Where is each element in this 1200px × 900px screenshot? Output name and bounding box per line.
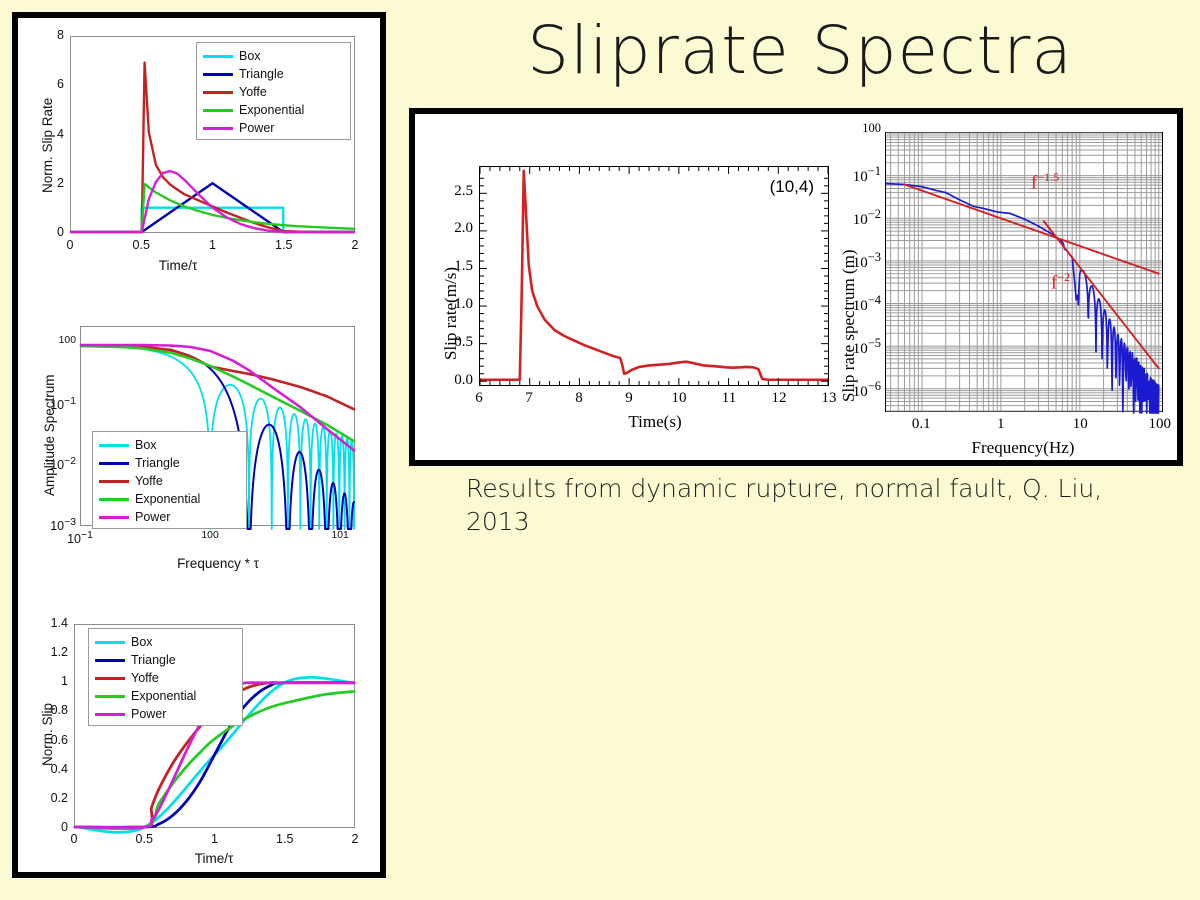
legend: BoxTriangleYoffeExponentialPower [92,431,247,529]
tick-label: 0 [71,832,78,846]
legend-label: Power [239,119,274,137]
legend-swatch-exponential [203,109,233,112]
tick-label: 1 [211,832,218,846]
tick-label: 100 [1148,416,1171,433]
legend-label: Triangle [239,65,284,83]
chart-slip-rate-timeseries: (10,4) 678910111213 0.00.51.01.52.02.5 T… [427,124,847,464]
x-axis-label: Time/τ [195,851,234,866]
tick-label: 1 [61,674,68,688]
legend-item: Triangle [197,65,350,83]
legend-label: Box [135,436,157,454]
legend-swatch-yoffe [203,91,233,94]
legend-item: Box [197,47,350,65]
tick-label: 100 [59,335,76,351]
legend-item: Power [89,705,242,723]
legend-label: Power [135,508,170,526]
chart-slip-rate-spectrum: 0.1110100 10−610−510−410−310−210−1100 Fr… [823,118,1181,466]
legend-label: Exponential [135,490,200,508]
legend-swatch-triangle [203,73,233,76]
tick-label: 10 [672,390,687,407]
y-axis-label: Norm. Slip [40,703,55,766]
legend-swatch-box [203,55,233,58]
legend-label: Exponential [239,101,304,119]
legend-label: Yoffe [239,83,267,101]
legend-swatch-yoffe [95,677,125,680]
tick-label: 9 [625,390,633,407]
legend-swatch-power [203,127,233,130]
legend-label: Exponential [131,687,196,705]
legend-label: Triangle [135,454,180,472]
legend-swatch-exponential [99,498,129,501]
chart-amplitude-spectrum: 10−1100101 10−310−210−1100 Frequency * τ… [18,306,380,596]
legend-label: Box [131,633,153,651]
legend-item: Triangle [93,454,246,472]
legend-item: Power [197,119,350,137]
tick-label: 2 [352,832,359,846]
tick-label: 1 [209,238,216,252]
y-axis-label: Slip rate(m/s) [441,267,461,360]
tick-label: 0.1 [912,416,931,433]
tick-label: 0.5 [133,238,150,252]
x-axis-label: Time/τ [159,258,198,273]
tick-label: 0 [67,238,74,252]
legend-label: Triangle [131,651,176,669]
tick-label: 10−3 [50,517,76,533]
legend-swatch-yoffe [99,480,129,483]
y-axis-label: Slip rate spectrum (m) [839,250,859,403]
legend-item: Power [93,508,246,526]
legend-item: Box [93,436,246,454]
annotation-station-label: (10,4) [770,177,814,197]
tick-label: 8 [575,390,583,407]
annotation-f-2: f−2 [1051,270,1070,294]
legend-item: Box [89,633,242,651]
right-figure-panel: (10,4) 678910111213 0.00.51.01.52.02.5 T… [409,108,1183,466]
x-axis-label: Frequency(Hz) [972,438,1075,458]
legend-label: Yoffe [135,472,163,490]
tick-label: 2.0 [454,220,473,237]
x-axis-label: Frequency * τ [177,556,259,571]
tick-label: 2 [352,238,359,252]
legend-item: Yoffe [93,472,246,490]
legend-item: Yoffe [197,83,350,101]
tick-label: 4 [57,127,64,141]
tick-label: 0 [57,225,64,239]
legend-label: Box [239,47,261,65]
tick-label: 1.5 [275,238,292,252]
y-axis-label: Amplitude Spectrum [42,374,57,496]
legend-swatch-box [95,641,125,644]
tick-label: 100 [862,121,881,143]
tick-label: 1.5 [276,832,293,846]
legend: BoxTriangleYoffeExponentialPower [196,42,351,140]
plot-area: (10,4) [479,166,829,386]
annotation-f-1-5: f−1.5 [1031,170,1059,194]
tick-label: 7 [525,390,533,407]
legend-swatch-triangle [99,462,129,465]
tick-label: 0.0 [454,372,473,389]
tick-label: 2 [57,176,64,190]
x-axis-label: Time(s) [628,412,681,432]
slide-caption: Results from dynamic rupture, normal fau… [466,472,1166,538]
tick-label: 1.4 [51,616,68,630]
tick-label: 10−1 [853,164,881,186]
tick-label: 6 [57,77,64,91]
tick-label: 11 [722,390,736,407]
tick-label: 8 [57,28,64,42]
tick-label: 100 [201,530,218,546]
tick-label: 0.5 [136,832,153,846]
legend-item: Exponential [89,687,242,705]
legend-swatch-power [95,713,125,716]
page-title: Sliprate Spectra [430,8,1170,94]
legend-swatch-exponential [95,695,125,698]
tick-label: 6 [475,390,483,407]
tick-label: 12 [772,390,787,407]
tick-label: 2.5 [454,183,473,200]
chart-normalized-slip: 00.511.52 00.20.40.60.811.21.4 Time/τ No… [18,606,380,878]
left-figure-panel: 00.511.52 02468 Time/τ Norm. Slip Rate B… [12,12,386,878]
y-axis-label: Norm. Slip Rate [40,98,55,193]
tick-label: 101 [331,530,348,546]
legend-label: Power [131,705,166,723]
tick-label: 0 [61,820,68,834]
tick-label: 0.2 [51,791,68,805]
tick-label: 10 [1073,416,1088,433]
series-lines [480,167,828,385]
tick-label: 10−2 [853,207,881,229]
legend: BoxTriangleYoffeExponentialPower [88,628,243,726]
legend-item: Triangle [89,651,242,669]
tick-label: 1.2 [51,645,68,659]
legend-swatch-power [99,516,129,519]
chart-slip-rate-functions: 00.511.52 02468 Time/τ Norm. Slip Rate B… [18,18,380,298]
legend-item: Yoffe [89,669,242,687]
slide-root: Sliprate Spectra 00.511.52 02468 Time/τ … [0,0,1200,900]
legend-item: Exponential [93,490,246,508]
legend-label: Yoffe [131,669,159,687]
plot-area [885,132,1163,412]
legend-swatch-triangle [95,659,125,662]
legend-swatch-box [99,444,129,447]
series-lines [886,133,1162,411]
tick-label: 1 [997,416,1005,433]
legend-item: Exponential [197,101,350,119]
